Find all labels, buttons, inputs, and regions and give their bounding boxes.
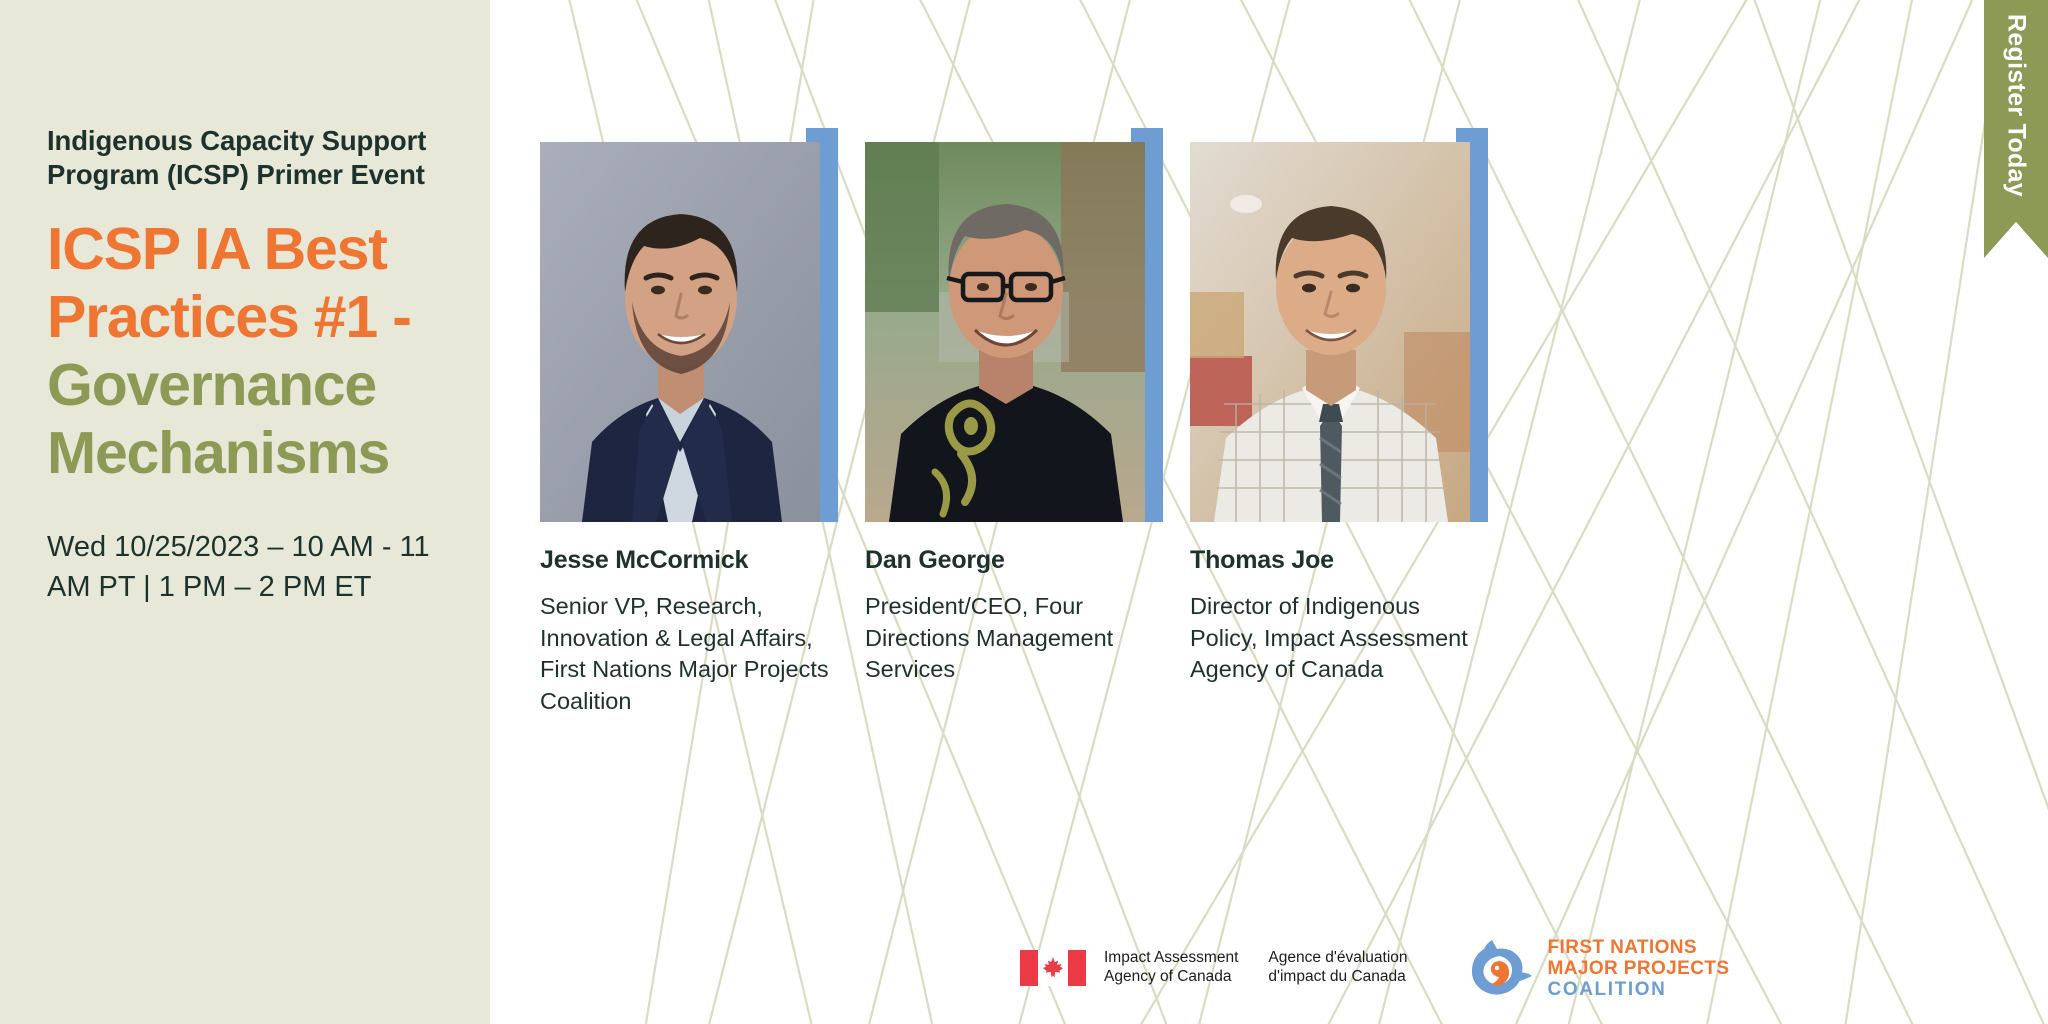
page-title: ICSP IA Best Practices #1 - Governance M… [47, 216, 492, 487]
speaker-portrait [540, 142, 820, 522]
canada-flag-icon [1020, 950, 1086, 986]
speaker-photo-frame [1190, 128, 1488, 522]
speaker-title: President/CEO, Four Directions Managemen… [865, 591, 1165, 686]
iaac-name-en: Impact Assessment Agency of Canada [1104, 949, 1238, 987]
speaker-card: Dan George President/CEO, Four Direction… [865, 128, 1195, 686]
speaker-name: Dan George [865, 546, 1195, 575]
government-of-canada-logo: Impact Assessment Agency of Canada Agenc… [1020, 949, 1408, 987]
event-datetime: Wed 10/25/2023 – 10 AM - 11 AM PT | 1 PM… [47, 527, 467, 607]
fnmpc-logo: FIRST NATIONS MAJOR PROJECTS COALITION [1466, 936, 1730, 1000]
speaker-title: Director of Indigenous Policy, Impact As… [1190, 591, 1490, 686]
headline-olive: Governance Mechanisms [47, 352, 389, 486]
program-eyebrow: Indigenous Capacity Support Program (ICS… [47, 124, 487, 191]
event-promo-poster: Indigenous Capacity Support Program (ICS… [0, 0, 2048, 1024]
iaac-name-fr: Agence d'évaluation d'impact du Canada [1268, 949, 1407, 987]
logo-row: Impact Assessment Agency of Canada Agenc… [1020, 936, 1729, 1000]
fnmpc-wolf-salmon-icon [1466, 936, 1534, 1000]
speaker-title: Senior VP, Research, Innovation & Legal … [540, 591, 840, 718]
speaker-name: Thomas Joe [1190, 546, 1520, 575]
speaker-photo-frame [540, 128, 838, 522]
speaker-portrait [1190, 142, 1470, 522]
event-info-panel: Indigenous Capacity Support Program (ICS… [0, 0, 490, 1024]
maple-leaf-icon [1042, 956, 1064, 980]
speaker-portrait [865, 142, 1145, 522]
register-today-label: Register Today [2002, 14, 2031, 197]
register-today-ribbon[interactable]: Register Today [1984, 0, 2048, 258]
speaker-name: Jesse McCormick [540, 546, 870, 575]
headline-orange: ICSP IA Best Practices #1 - [47, 216, 411, 350]
fnmpc-wordmark: FIRST NATIONS MAJOR PROJECTS COALITION [1548, 938, 1730, 999]
speaker-photo-frame [865, 128, 1163, 522]
speaker-list: Jesse McCormick Senior VP, Research, Inn… [490, 0, 2048, 1024]
speaker-card: Jesse McCormick Senior VP, Research, Inn… [540, 128, 870, 718]
speaker-card: Thomas Joe Director of Indigenous Policy… [1190, 128, 1520, 686]
